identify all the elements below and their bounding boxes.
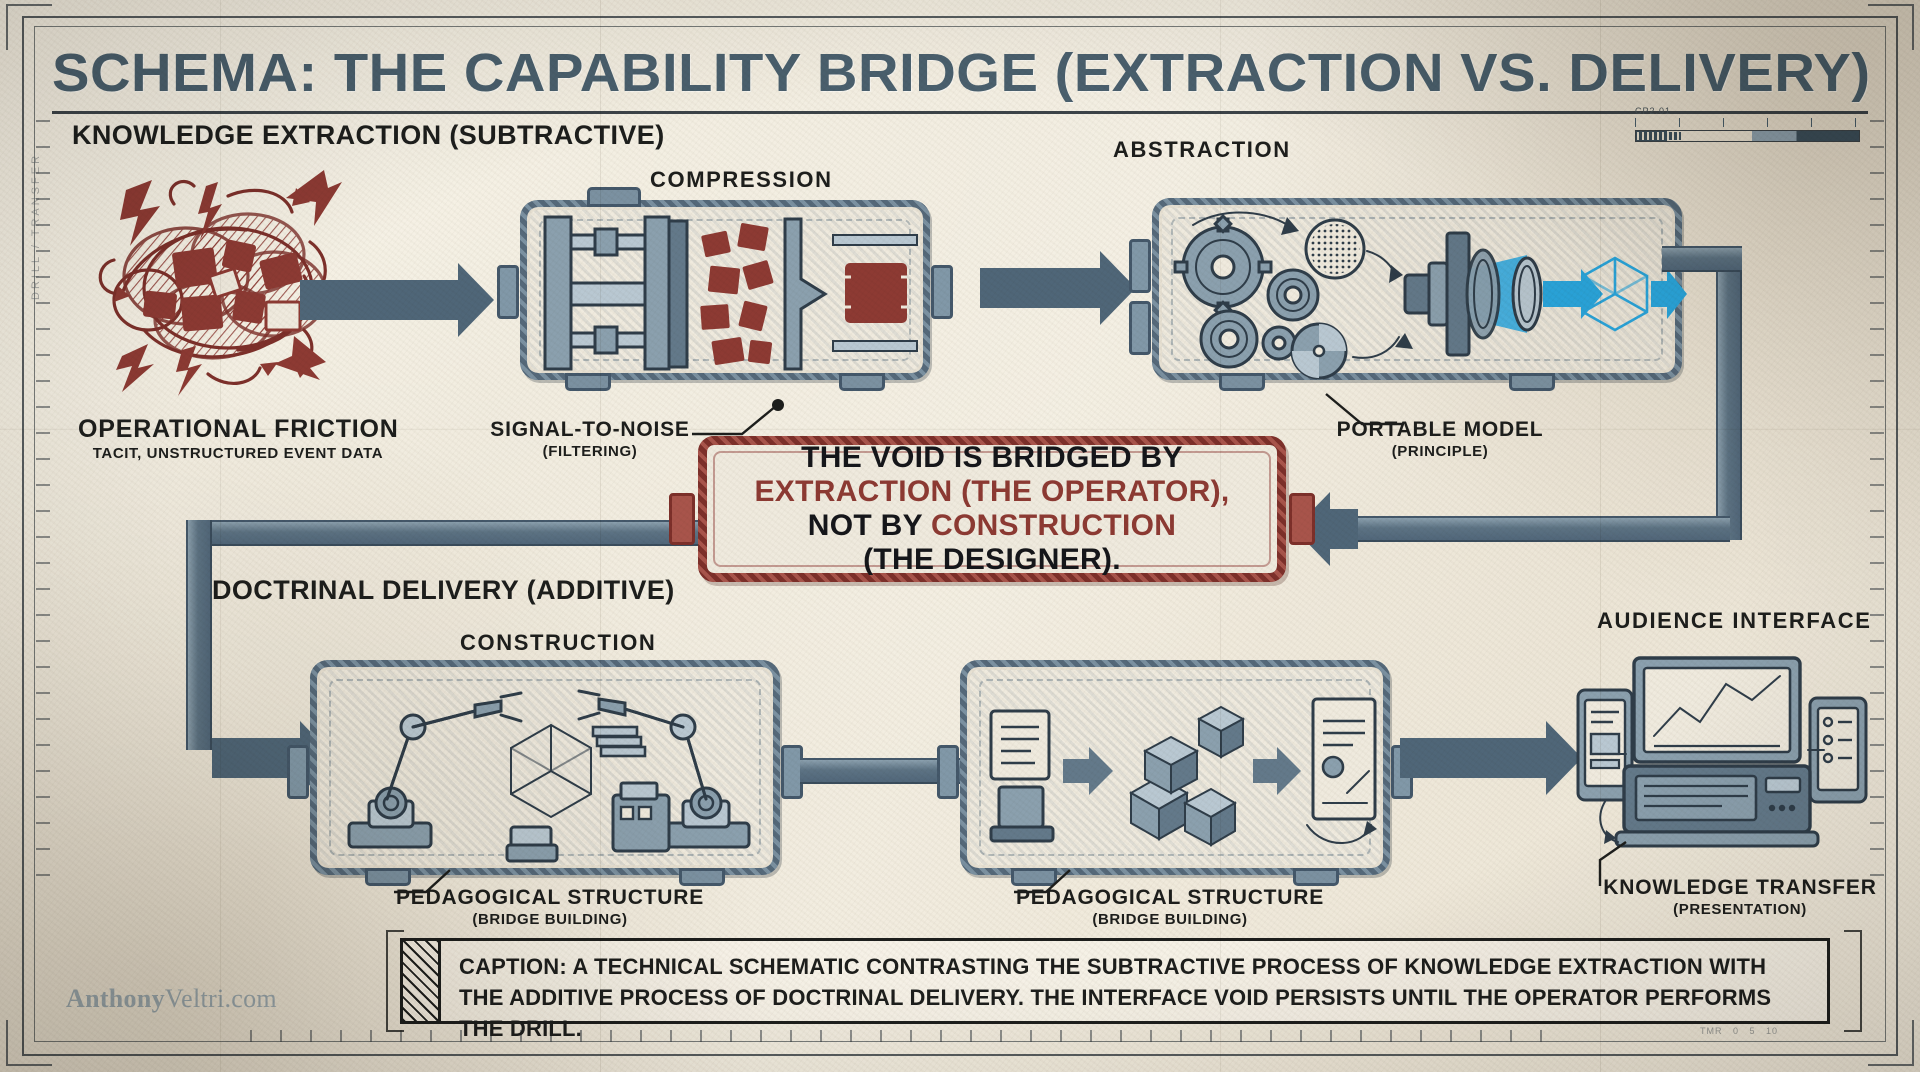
stage-title-abstraction: ABSTRACTION bbox=[1113, 137, 1291, 163]
scale-ruler-ticks bbox=[1635, 118, 1860, 127]
central-callout-panel: THE VOID IS BRIDGED BY EXTRACTION (THE O… bbox=[698, 436, 1286, 582]
callout-flange-left bbox=[669, 493, 695, 545]
module-delivery-packaging bbox=[960, 660, 1390, 875]
page-title: SCHEMA: THE CAPABILITY BRIDGE (EXTRACTIO… bbox=[52, 42, 1920, 104]
module-compression-port-left bbox=[497, 265, 519, 319]
callout-flange-right bbox=[1289, 493, 1315, 545]
module-abstraction-port-left-lower bbox=[1129, 301, 1151, 355]
return-pipe-horizontal-upper bbox=[1330, 516, 1730, 542]
corner-mark-bottom-right bbox=[1868, 1020, 1914, 1066]
scale-ruler-dots bbox=[1637, 132, 1681, 140]
section-heading-delivery-qualifier: (ADDITIVE) bbox=[527, 575, 675, 605]
caption-hatch-block bbox=[403, 941, 441, 1021]
flow-arrow-return-to-callout bbox=[1328, 509, 1358, 549]
callout-text: THE VOID IS BRIDGED BY EXTRACTION (THE O… bbox=[707, 445, 1277, 573]
caption-text: CAPTION: A TECHNICAL SCHEMATIC CONTRASTI… bbox=[459, 951, 1811, 1044]
abstraction-mechanism-illustration bbox=[1167, 211, 1679, 377]
stage-title-audience-interface: AUDIENCE INTERFACE bbox=[1597, 608, 1872, 634]
return-pipe-vertical-left bbox=[186, 520, 212, 750]
ruler-ticks-right bbox=[1870, 120, 1884, 880]
module-compression-port-right bbox=[931, 265, 953, 319]
section-heading-extraction: KNOWLEDGE EXTRACTION (SUBTRACTIVE) bbox=[72, 120, 665, 151]
section-heading-delivery: DOCTRINAL DELIVERY (ADDITIVE) bbox=[212, 575, 675, 606]
caption-label: CAPTION: bbox=[459, 954, 567, 979]
flow-arrow-friction-to-compression bbox=[300, 280, 460, 320]
callout-line-1: THE VOID IS BRIDGED BY bbox=[801, 441, 1183, 475]
corner-mark-bottom-left bbox=[6, 1020, 52, 1066]
callout-line-3-emphasis: CONSTRUCTION bbox=[931, 509, 1176, 542]
label-portable-model-sub: (PRINCIPLE) bbox=[1290, 443, 1590, 460]
module-abstraction bbox=[1152, 198, 1682, 380]
label-pedagogical-structure-right-sub: (BRIDGE BUILDING) bbox=[1010, 911, 1330, 928]
return-pipe-horizontal-left bbox=[186, 520, 706, 546]
label-operational-friction: OPERATIONAL FRICTION TACIT, UNSTRUCTURED… bbox=[78, 415, 398, 462]
label-signal-to-noise-title: SIGNAL-TO-NOISE bbox=[450, 418, 730, 442]
label-operational-friction-sub: TACIT, UNSTRUCTURED EVENT DATA bbox=[78, 445, 398, 462]
label-signal-to-noise-sub: (FILTERING) bbox=[450, 443, 730, 460]
callout-line-3-prefix: NOT BY bbox=[808, 509, 931, 542]
callout-line-4: (THE DESIGNER). bbox=[863, 543, 1121, 577]
section-heading-extraction-text: KNOWLEDGE EXTRACTION bbox=[72, 120, 442, 150]
leader-line-pedagogy-right bbox=[1012, 866, 1092, 902]
flow-arrow-delivery-to-audience bbox=[1400, 738, 1548, 778]
callout-line-2: EXTRACTION (THE OPERATOR), bbox=[754, 475, 1229, 509]
leader-line-portable-model bbox=[1296, 390, 1406, 440]
callout-line-3: NOT BY CONSTRUCTION bbox=[808, 509, 1177, 543]
scale-ruler-caption: CP2.01 bbox=[1635, 106, 1671, 116]
caption-bar: CAPTION: A TECHNICAL SCHEMATIC CONTRASTI… bbox=[400, 938, 1830, 1024]
section-heading-delivery-text: DOCTRINAL DELIVERY bbox=[212, 575, 519, 605]
delivery-packaging-illustration bbox=[977, 675, 1387, 873]
module-construction bbox=[310, 660, 780, 875]
label-signal-to-noise: SIGNAL-TO-NOISE (FILTERING) bbox=[450, 418, 730, 460]
compression-mechanism-illustration bbox=[533, 211, 929, 377]
stage-title-compression: COMPRESSION bbox=[650, 167, 833, 193]
caption-bracket-right bbox=[1844, 930, 1862, 1032]
flow-arrow-compression-to-abstraction bbox=[980, 268, 1102, 308]
section-heading-extraction-qualifier: (SUBTRACTIVE) bbox=[449, 120, 664, 150]
label-pedagogical-structure-left-sub: (BRIDGE BUILDING) bbox=[390, 911, 710, 928]
scale-ruler-widget: CP2.01 bbox=[1635, 118, 1860, 148]
module-construction-port-left bbox=[287, 745, 309, 799]
module-abstraction-port-left-upper bbox=[1129, 239, 1151, 293]
signature-name: Anthony bbox=[66, 984, 165, 1013]
side-note-label: DRILL / TRANSFER bbox=[30, 100, 42, 300]
title-band: SCHEMA: THE CAPABILITY BRIDGE (EXTRACTIO… bbox=[52, 42, 1868, 114]
label-knowledge-transfer-sub: (PRESENTATION) bbox=[1590, 901, 1890, 918]
signature-watermark: AnthonyVeltri.com bbox=[66, 984, 277, 1014]
schematic-poster: DRILL / TRANSFER SCHEMA: THE CAPABILITY … bbox=[0, 0, 1920, 1072]
caption-body: A TECHNICAL SCHEMATIC CONTRASTING THE SU… bbox=[459, 954, 1771, 1041]
return-pipe-elbow-top bbox=[1662, 246, 1742, 272]
return-pipe-vertical-right bbox=[1716, 250, 1742, 540]
signature-domain: Veltri.com bbox=[165, 984, 277, 1013]
label-operational-friction-title: OPERATIONAL FRICTION bbox=[78, 415, 398, 444]
module-compression-knob bbox=[587, 187, 641, 207]
module-compression bbox=[520, 200, 930, 380]
stage-title-construction: CONSTRUCTION bbox=[460, 630, 656, 656]
corner-mark-top-left bbox=[6, 4, 52, 50]
construction-robotics-illustration bbox=[325, 675, 777, 873]
connector-pipe-construction-to-delivery bbox=[800, 758, 960, 784]
module-delivery-port-left bbox=[937, 745, 959, 799]
leader-line-knowledge-transfer bbox=[1596, 840, 1686, 890]
leader-line-pedagogy-left bbox=[392, 866, 472, 902]
